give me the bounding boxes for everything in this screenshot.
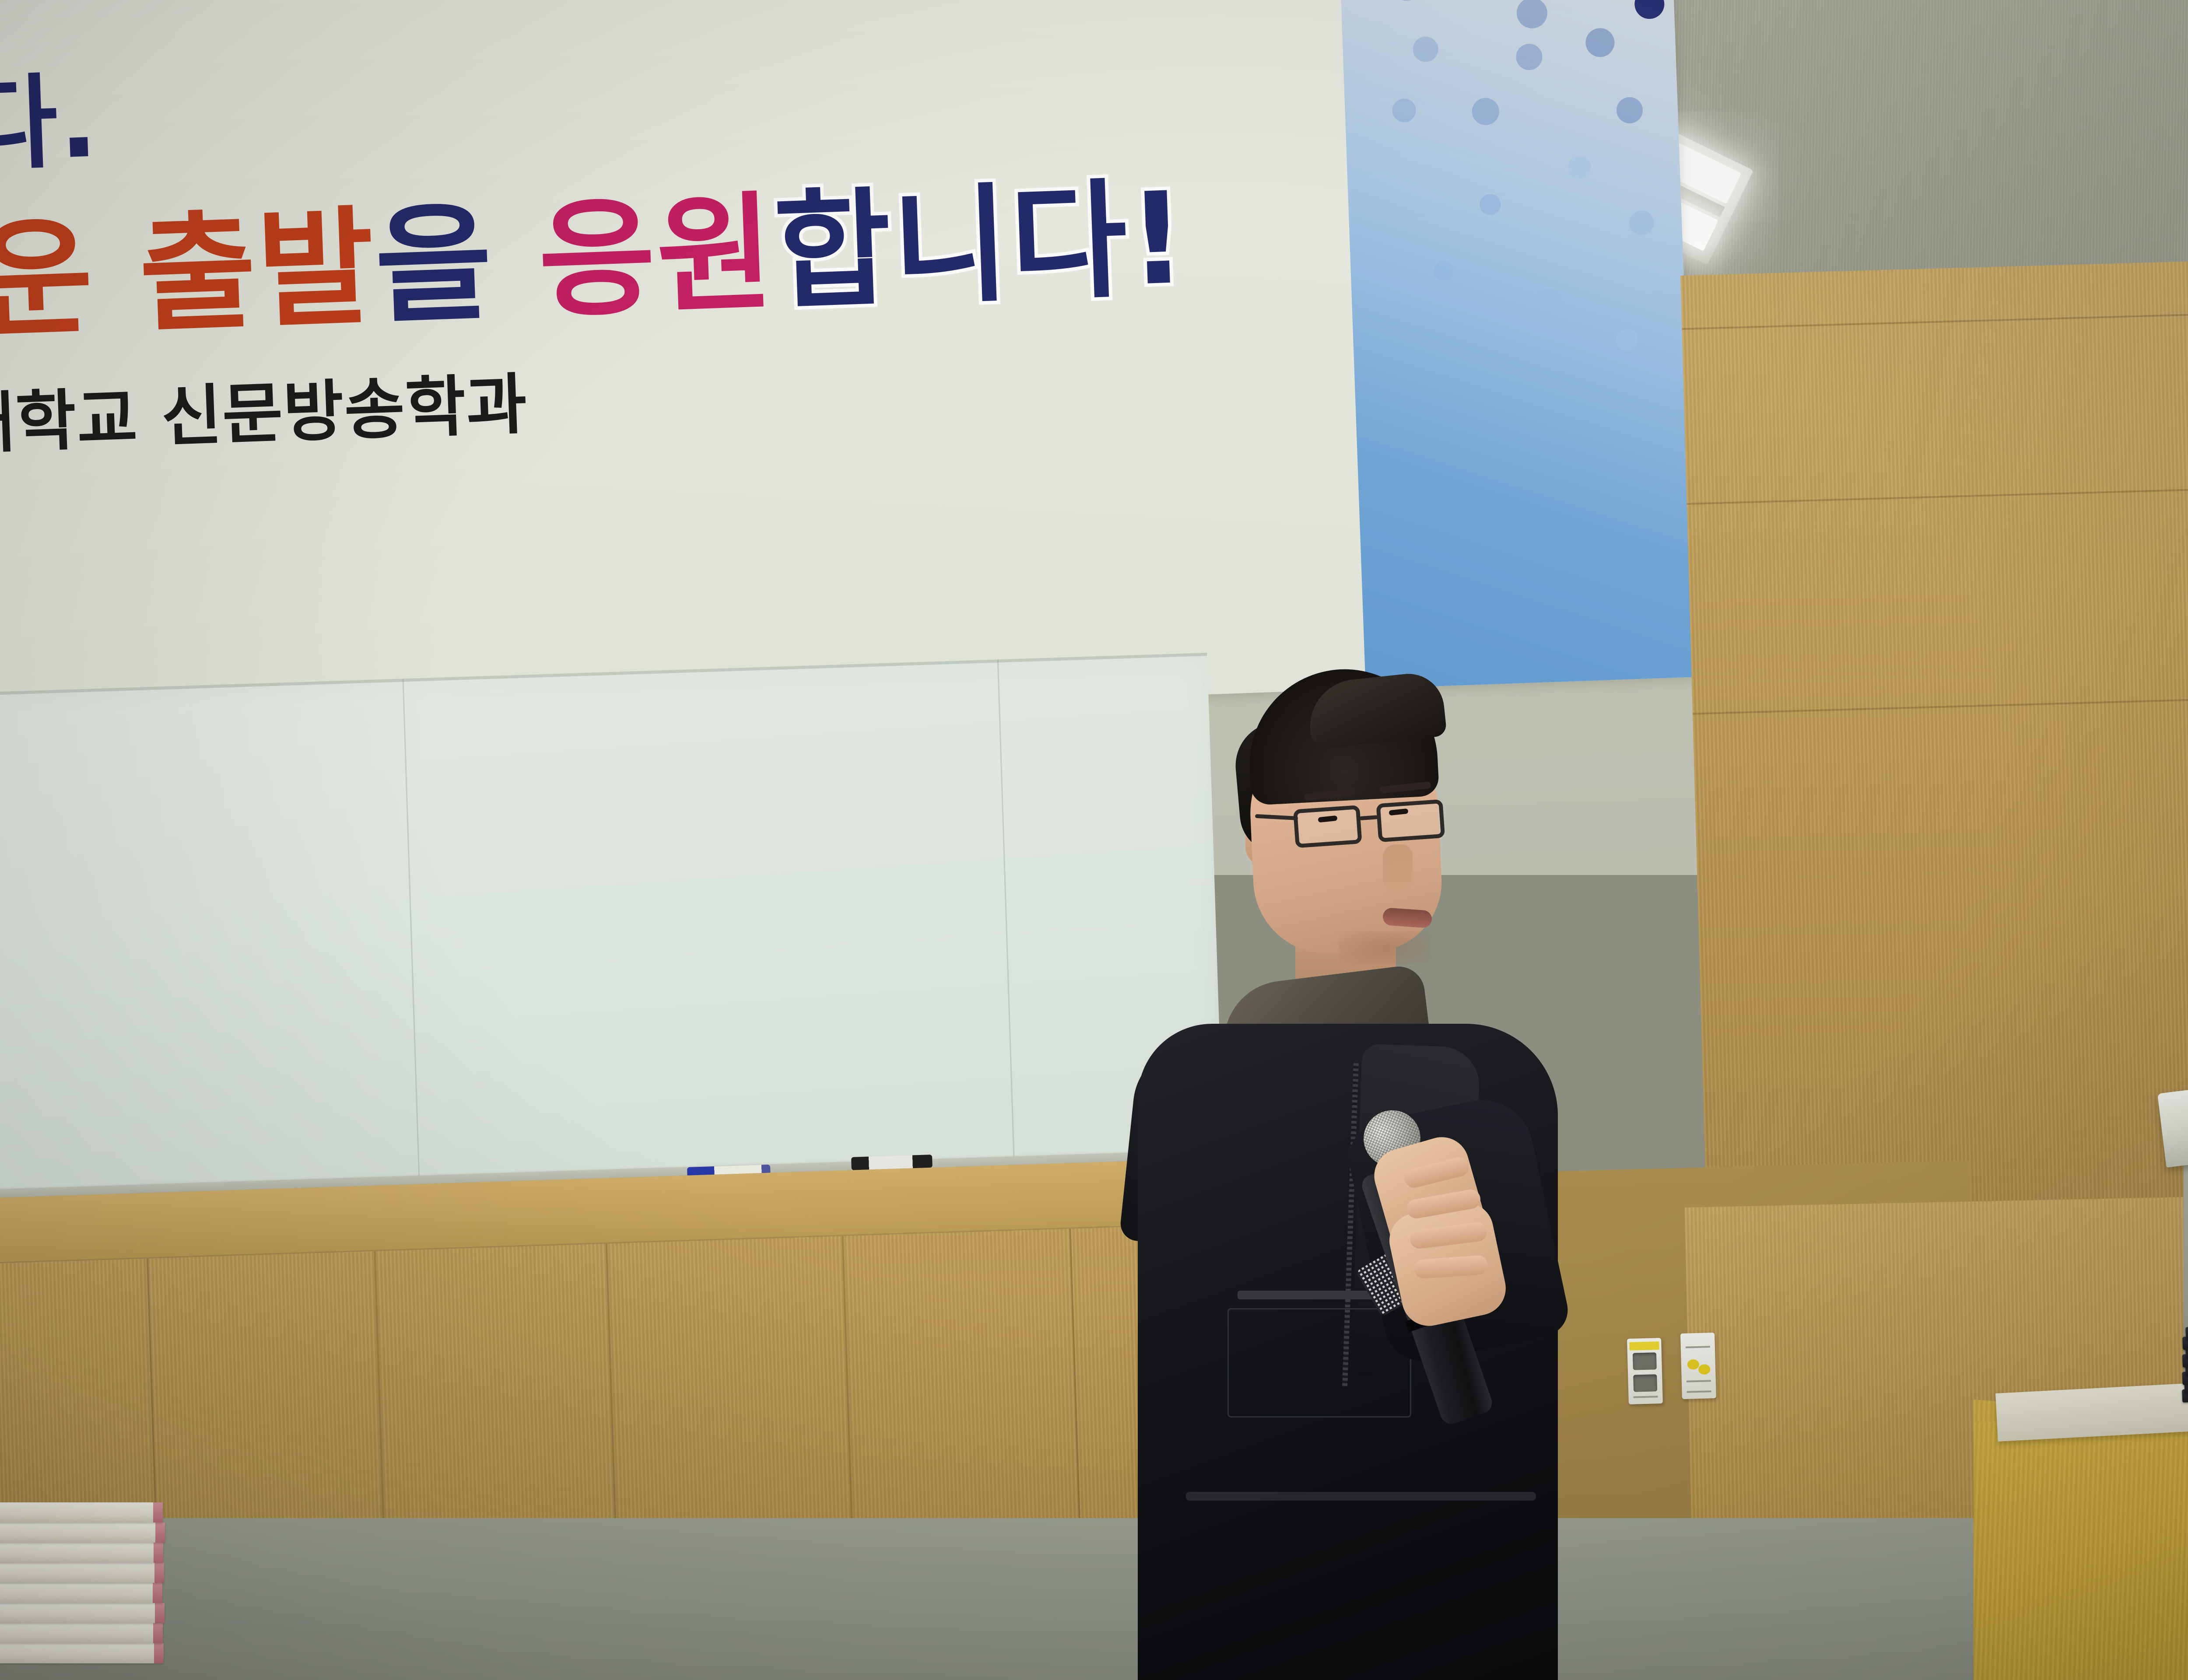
mouth <box>1382 907 1433 928</box>
banner-dot <box>1585 28 1615 57</box>
booklet <box>0 1563 164 1583</box>
nose <box>1383 844 1413 893</box>
banner-dot <box>1616 97 1643 124</box>
banner-line-2-part-3: 응원 <box>536 179 777 335</box>
banner-dot <box>1392 98 1417 122</box>
booklet <box>0 1522 165 1543</box>
speaker-person <box>1120 669 1610 1680</box>
floor <box>0 1518 2188 1680</box>
outlet-socket-bottom[interactable] <box>1634 1374 1657 1392</box>
banner-dot <box>1634 0 1665 19</box>
coat-hem <box>1186 1492 1536 1501</box>
banner-line-3: 구대학교 신문방송학과 <box>0 351 529 469</box>
banner-line-1: 니다. <box>0 38 101 193</box>
outlet-line <box>1633 1396 1658 1398</box>
chin-shadow <box>1339 931 1431 964</box>
banner-dot <box>1393 0 1421 1</box>
wood-texture <box>1974 1422 2188 1680</box>
banner-dot <box>1568 155 1592 179</box>
outlet-warning-label <box>1630 1341 1659 1351</box>
banner-dot <box>1535 288 1562 315</box>
banner-dot <box>1434 261 1454 281</box>
booklet-top <box>0 1502 163 1522</box>
av-jack-right[interactable] <box>1698 1364 1710 1374</box>
jack-line <box>1687 1390 1711 1393</box>
banner-dot <box>1480 194 1501 216</box>
banner-dot <box>1516 0 1548 29</box>
banner-dot <box>1629 210 1654 235</box>
booklet <box>0 1603 165 1623</box>
booklet <box>0 1643 164 1663</box>
banner-dot <box>1515 43 1543 70</box>
right-wood-panel <box>1680 259 2188 1238</box>
banner-line-2: 로운 출발을 응원합니다! <box>0 135 1190 366</box>
banner-line-2-part-0: 로운 <box>0 202 142 360</box>
whiteboard-seam <box>997 659 1015 1175</box>
event-banner: 니다. 로운 출발을 응원합니다! 구대학교 신문방송학과 <box>0 0 1698 739</box>
banner-line-2-part-5: ! <box>1126 164 1190 314</box>
whiteboard <box>0 653 1224 1209</box>
table-front-panel <box>1974 1422 2188 1680</box>
av-jack-left[interactable] <box>1687 1359 1699 1369</box>
banner-line-2-part-4: 합니다 <box>772 167 1131 327</box>
outlet-socket-top[interactable] <box>1633 1352 1656 1370</box>
banner-line-2-part-1: 출발 <box>137 194 378 350</box>
wood-texture <box>1680 259 2188 1238</box>
banner-dot <box>1472 98 1500 126</box>
jack-line <box>1687 1380 1711 1382</box>
white-booklet-stack <box>0 1496 171 1680</box>
banner-line-2-part-2: 을 <box>373 188 541 341</box>
power-outlet-plate[interactable] <box>1627 1338 1663 1404</box>
banner-blue-gradient-panel <box>1338 0 1698 689</box>
banner-dot <box>1616 329 1638 352</box>
whiteboard-seam <box>402 679 420 1194</box>
glasses-lens-left <box>1293 805 1362 848</box>
av-jack-plate[interactable] <box>1680 1333 1716 1399</box>
eyeglasses <box>1293 794 1453 858</box>
glasses-bridge <box>1359 815 1378 820</box>
banner-dot <box>1413 36 1439 63</box>
jack-line <box>1686 1346 1710 1348</box>
booklet <box>0 1583 162 1603</box>
glasses-lens-right <box>1376 799 1445 842</box>
photo-scene: 니다. 로운 출발을 응원합니다! 구대학교 신문방송학과 <box>0 0 2188 1680</box>
booklet <box>0 1623 163 1643</box>
booklet <box>0 1543 163 1563</box>
